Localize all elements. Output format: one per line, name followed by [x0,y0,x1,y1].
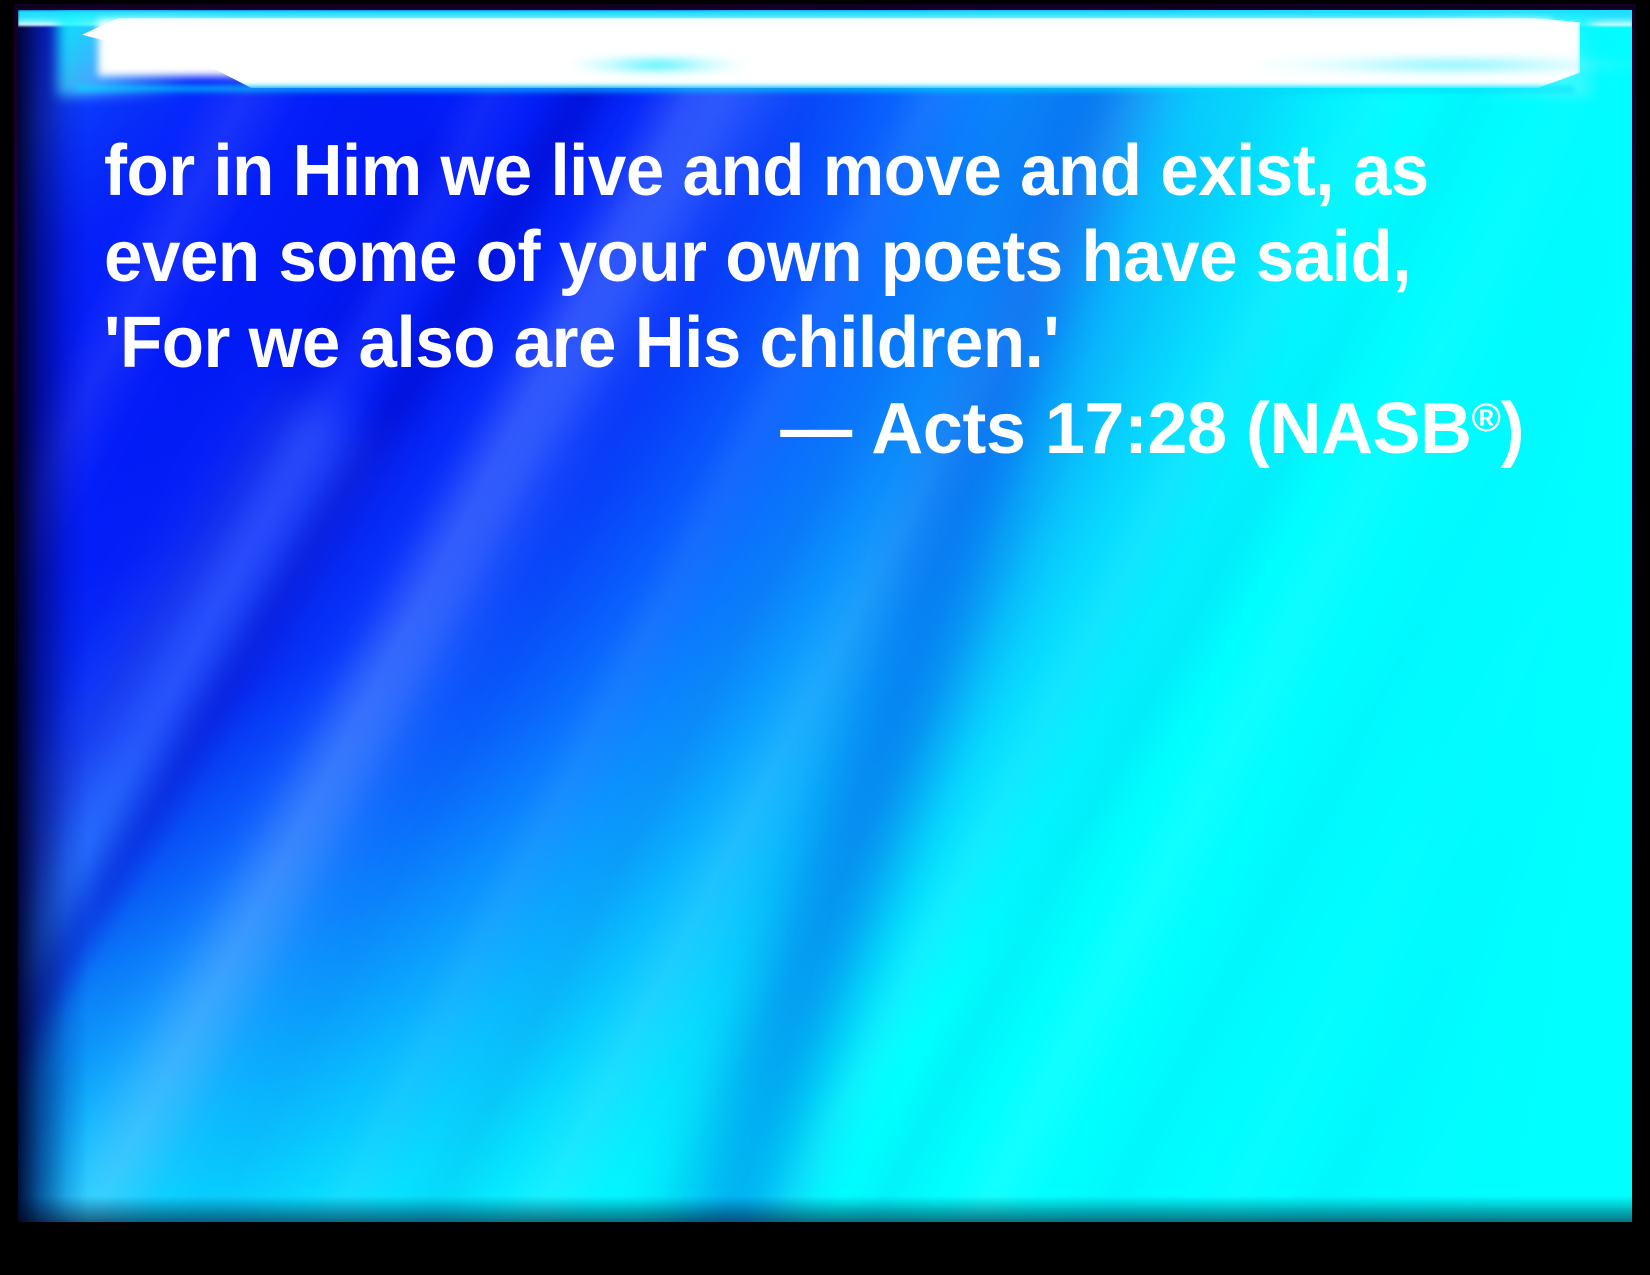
reference-open-paren: ( [1246,389,1269,469]
verse-line-3: 'For we also are His children.' [104,300,1467,386]
slide-stage: for in Him we live and move and exist, a… [18,10,1632,1222]
reference-close-paren: ) [1501,389,1524,469]
reference-translation: NASB [1270,389,1472,469]
reference-citation: Acts 17:28 [871,389,1226,469]
background-left-vignette [18,10,88,1222]
verse-line-2: even some of your own poets have said, [104,214,1467,300]
verse-text-block: for in Him we live and move and exist, a… [104,128,1524,386]
verse-line-1: for in Him we live and move and exist, a… [104,128,1467,214]
background-bottom-vignette [18,1196,1632,1222]
reference-dash: — [780,389,852,469]
verse-slide: for in Him we live and move and exist, a… [0,0,1650,1275]
registered-trademark-icon: ® [1472,396,1501,440]
verse-reference: — Acts 17:28 (NASB®) [104,386,1524,472]
